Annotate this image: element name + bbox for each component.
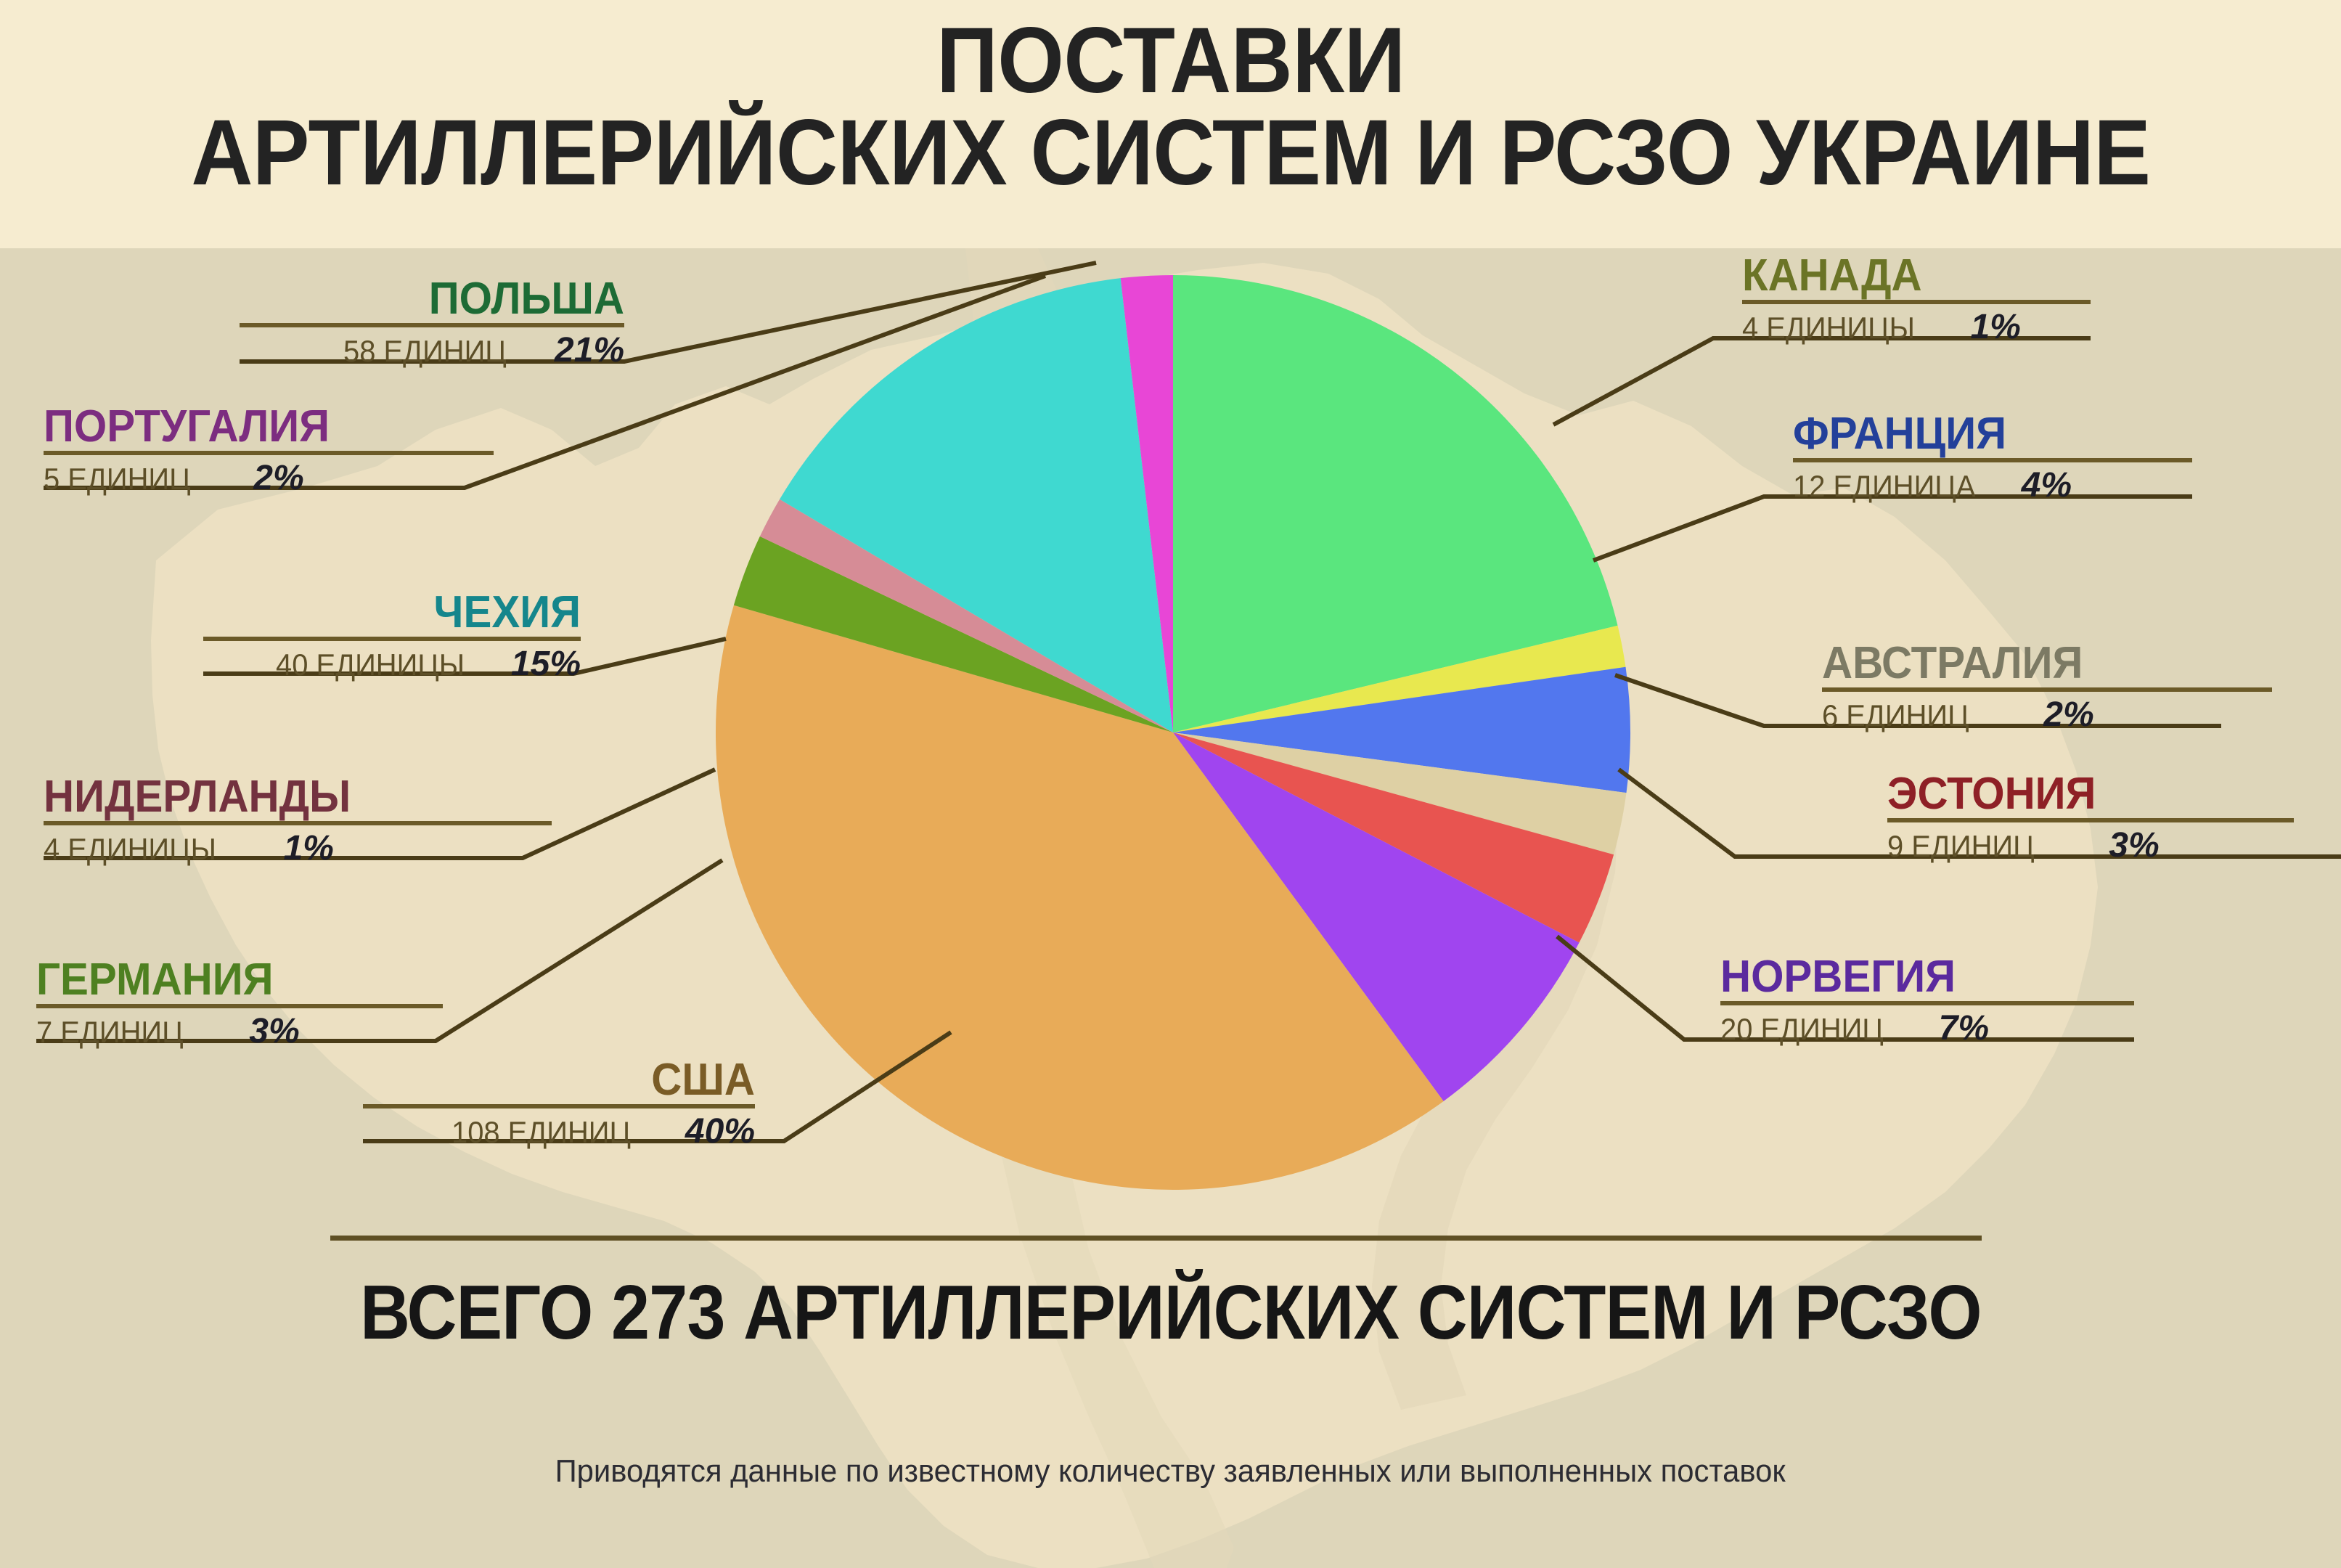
label-portugal-country: ПОРТУГАЛИЯ (44, 404, 467, 449)
label-canada-percent: 1% (1970, 307, 2020, 347)
label-portugal-details: 5 ЕДИНИЦ 2% (44, 458, 494, 498)
label-norway-country: НОРВЕГИЯ (1720, 954, 2109, 1000)
footnote: Приводятся данные по известному количест… (0, 1453, 2341, 1490)
label-czechia-details: 40 ЕДИНИЦЫ 15% (203, 644, 581, 684)
label-germany-rule (36, 1004, 443, 1008)
label-czechia-rule (203, 637, 581, 641)
label-norway-percent: 7% (1939, 1008, 1989, 1048)
label-estonia-percent: 3% (2109, 825, 2159, 865)
total-headline-text: ВСЕГО 273 АРТИЛЛЕРИЙСКИХ СИСТЕМ И РСЗО (360, 1269, 1982, 1357)
label-poland-country: ПОЛЬША (263, 276, 624, 322)
label-france-percent: 4% (2022, 465, 2072, 505)
label-czechia-country: ЧЕХИЯ (226, 589, 581, 635)
label-poland-units: 58 ЕДИНИЦ (343, 334, 507, 369)
label-australia[interactable]: АВСТРАЛИЯ 6 ЕДИНИЦ 2% (1822, 640, 2272, 735)
infographic-root: ПОСТАВКИ АРТИЛЛЕРИЙСКИХ СИСТЕМ И РСЗО УК… (0, 0, 2341, 1568)
label-canada-rule (1742, 300, 2091, 304)
label-czechia-percent: 15% (511, 644, 581, 684)
label-usa-units: 108 ЕДИНИЦ (452, 1115, 631, 1150)
label-norway[interactable]: НОРВЕГИЯ 20 ЕДИНИЦ 7% (1720, 954, 2134, 1048)
leader-line-france (1593, 497, 2192, 560)
header-band: ПОСТАВКИ АРТИЛЛЕРИЙСКИХ СИСТЕМ И РСЗО УК… (0, 0, 2341, 248)
label-poland-percent: 21% (555, 330, 624, 370)
label-australia-percent: 2% (2043, 695, 2093, 735)
label-canada-country: КАНАДА (1742, 253, 2070, 298)
label-usa-rule (363, 1104, 755, 1108)
label-estonia-details: 9 ЕДИНИЦ 3% (1887, 825, 2294, 865)
label-poland[interactable]: ПОЛЬША 58 ЕДИНИЦ 21% (240, 276, 624, 370)
label-france[interactable]: ФРАНЦИЯ 12 ЕДИНИЦА 4% (1793, 411, 2192, 505)
label-france-rule (1793, 458, 2192, 462)
label-australia-country: АВСТРАЛИЯ (1822, 640, 2245, 686)
label-germany-units: 7 ЕДИНИЦ (36, 1015, 184, 1050)
label-netherlands-details: 4 ЕДИНИЦЫ 1% (44, 828, 552, 868)
label-usa[interactable]: США 108 ЕДИНИЦ 40% (363, 1057, 755, 1151)
label-germany-details: 7 ЕДИНИЦ 3% (36, 1011, 443, 1051)
label-norway-units: 20 ЕДИНИЦ (1720, 1012, 1884, 1047)
label-australia-rule (1822, 687, 2272, 692)
label-netherlands-rule (44, 821, 552, 825)
footer-divider (330, 1236, 1982, 1241)
label-netherlands[interactable]: НИДЕРЛАНДЫ 4 ЕДИНИЦЫ 1% (44, 774, 552, 868)
label-france-units: 12 ЕДИНИЦА (1793, 469, 1975, 504)
label-australia-units: 6 ЕДИНИЦ (1822, 698, 1969, 733)
label-portugal-percent: 2% (253, 458, 303, 498)
label-norway-details: 20 ЕДИНИЦ 7% (1720, 1008, 2134, 1048)
label-usa-details: 108 ЕДИНИЦ 40% (363, 1111, 755, 1151)
label-canada-units: 4 ЕДИНИЦЫ (1742, 311, 1915, 346)
label-poland-rule (240, 323, 624, 327)
footnote-text: Приводятся данные по известному количест… (555, 1453, 1786, 1490)
label-czechia-units: 40 ЕДИНИЦЫ (276, 648, 465, 682)
label-estonia-rule (1887, 818, 2294, 822)
label-france-country: ФРАНЦИЯ (1793, 411, 2168, 457)
label-usa-country: США (386, 1057, 755, 1103)
label-canada[interactable]: КАНАДА 4 ЕДИНИЦЫ 1% (1742, 253, 2091, 347)
label-netherlands-percent: 1% (283, 828, 333, 868)
label-estonia-units: 9 ЕДИНИЦ (1887, 829, 2035, 864)
label-poland-details: 58 ЕДИНИЦ 21% (240, 330, 624, 370)
label-canada-details: 4 ЕДИНИЦЫ 1% (1742, 307, 2091, 347)
label-estonia-country: ЭСТОНИЯ (1887, 771, 2269, 817)
page-title-line-1: ПОСТАВКИ (936, 17, 1405, 104)
label-portugal[interactable]: ПОРТУГАЛИЯ 5 ЕДИНИЦ 2% (44, 404, 494, 498)
label-norway-rule (1720, 1001, 2134, 1005)
label-germany[interactable]: ГЕРМАНИЯ 7 ЕДИНИЦ 3% (36, 957, 443, 1051)
label-usa-percent: 40% (685, 1111, 755, 1151)
label-netherlands-units: 4 ЕДИНИЦЫ (44, 832, 216, 867)
label-estonia[interactable]: ЭСТОНИЯ 9 ЕДИНИЦ 3% (1887, 771, 2294, 865)
total-headline: ВСЕГО 273 АРТИЛЛЕРИЙСКИХ СИСТЕМ И РСЗО (0, 1269, 2341, 1357)
label-france-details: 12 ЕДИНИЦА 4% (1793, 465, 2192, 505)
label-germany-country: ГЕРМАНИЯ (36, 957, 418, 1003)
page-title-line-2: АРТИЛЛЕРИЙСКИХ СИСТЕМ И РСЗО УКРАИНЕ (191, 110, 2150, 196)
label-netherlands-country: НИДЕРЛАНДЫ (44, 774, 521, 820)
label-portugal-units: 5 ЕДИНИЦ (44, 462, 191, 497)
label-portugal-rule (44, 451, 494, 455)
label-germany-percent: 3% (249, 1011, 299, 1051)
label-czechia[interactable]: ЧЕХИЯ 40 ЕДИНИЦЫ 15% (203, 589, 581, 684)
label-australia-details: 6 ЕДИНИЦ 2% (1822, 695, 2272, 735)
